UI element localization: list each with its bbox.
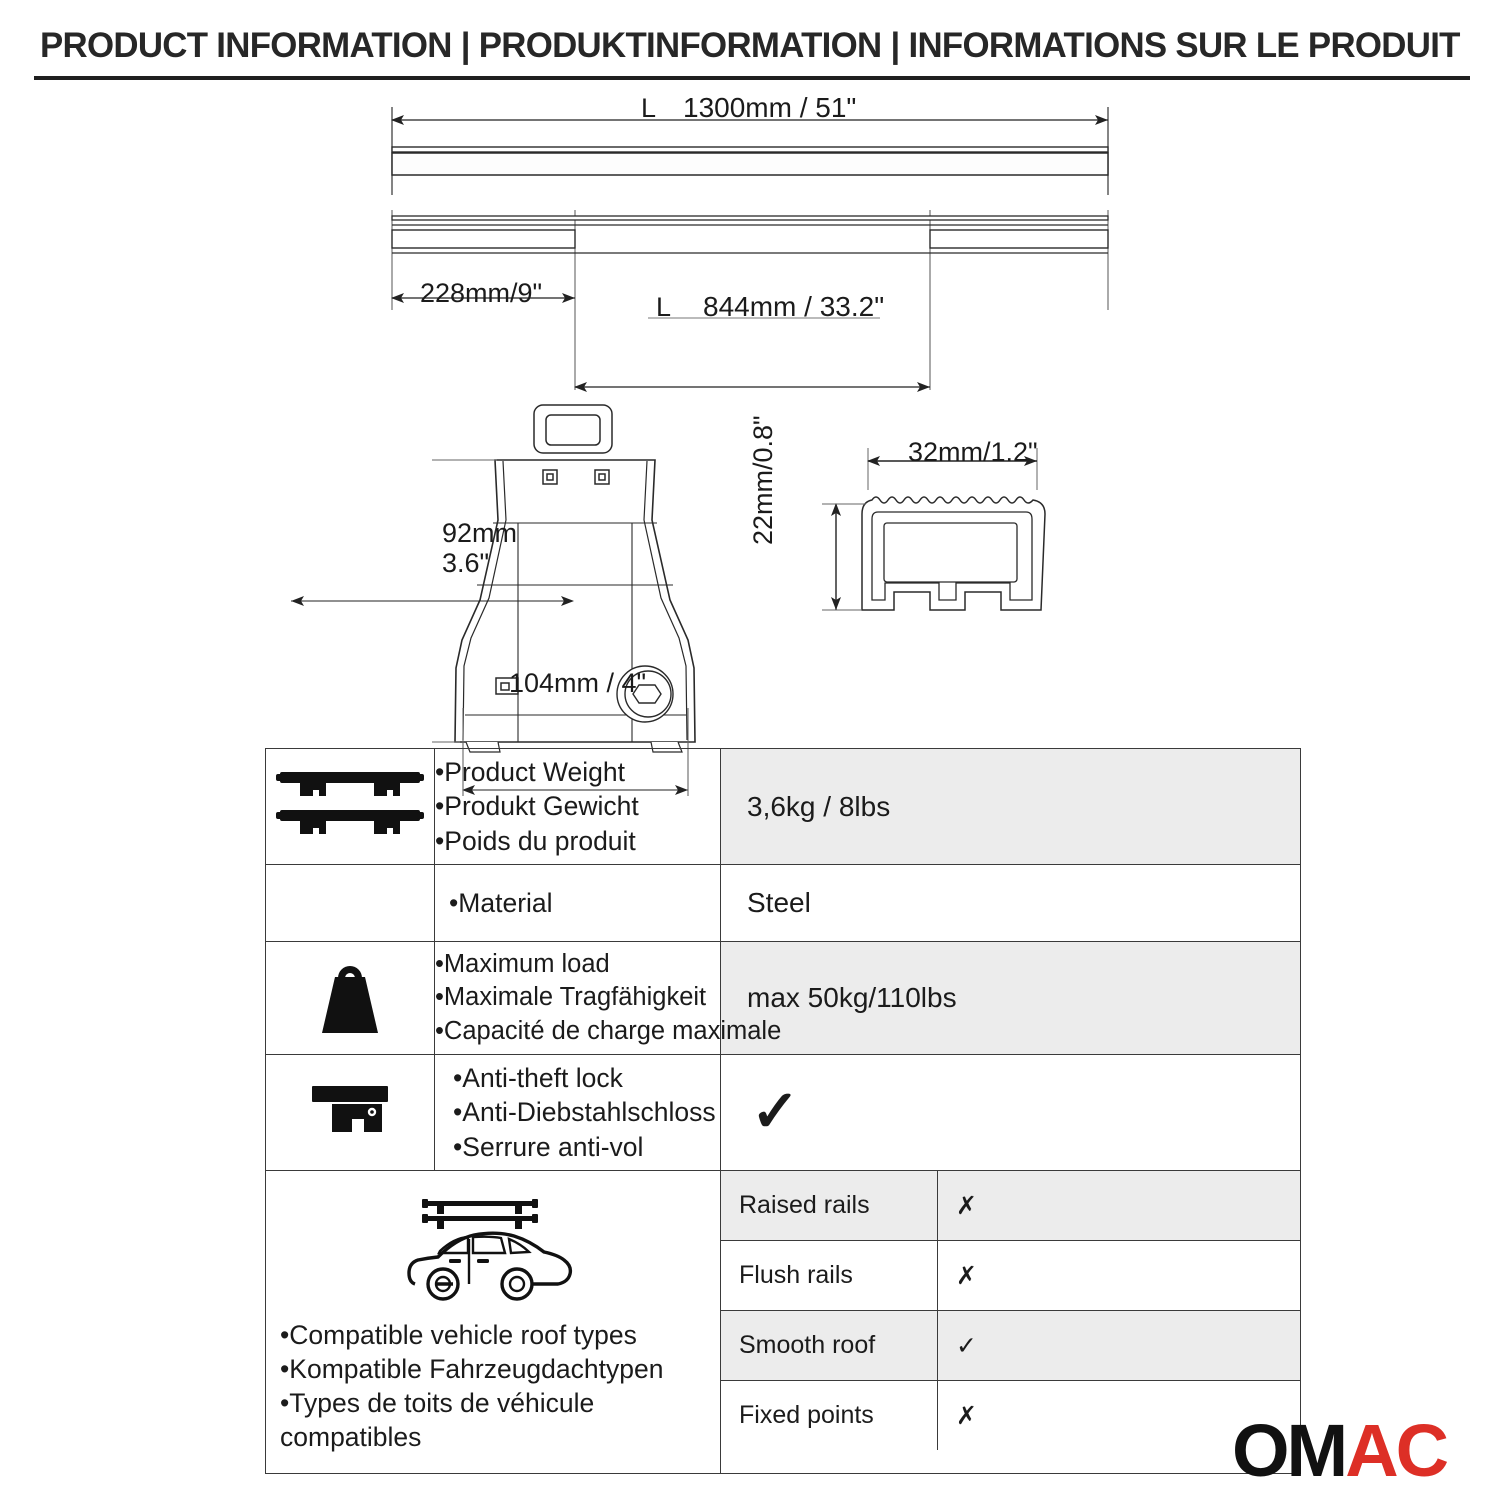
weight-value-cell: 3,6kg / 8lbs [721,749,1301,865]
weight-value: 3,6kg / 8lbs [721,791,1300,823]
roof-type-mark: ✗ [938,1241,1301,1311]
roof-subrow: Smooth roof ✓ [721,1311,1300,1381]
material-value: Steel [721,887,1300,919]
car-with-rack-icon-wrap [266,1189,720,1319]
lock-labels-cell: •Anti-theft lock •Anti-Diebstahlschloss … [435,1054,721,1170]
dim-foot-width: 104mm / 4" [509,668,646,699]
label-line: •Anti-theft lock [453,1061,716,1095]
logo-text-dark: OM [1232,1409,1345,1492]
label-line: •Produkt Gewicht [435,789,716,823]
roof-subrow: Fixed points ✗ [721,1381,1300,1451]
material-value-cell: Steel [721,865,1301,942]
label-line: •Types de toits de véhicule [280,1387,714,1421]
table-row: •Material Steel [266,865,1301,942]
lock-icon-cell [266,1054,435,1170]
label-line: •Serrure anti-vol [453,1130,716,1164]
dim-foot-height-line2: 3.6" [442,548,489,579]
table-row-roof-types: •Compatible vehicle roof types •Kompatib… [266,1171,1301,1474]
label-line: •Poids du produit [435,824,716,858]
label-line: compatibles [280,1421,714,1455]
maxload-value-cell: max 50kg/110lbs [721,942,1301,1054]
logo-text-red: AC [1345,1409,1446,1492]
table-row: •Product Weight •Produkt Gewicht •Poids … [266,749,1301,865]
roof-type-name: Fixed points [721,1381,938,1451]
lock-value-cell: ✓ [721,1054,1301,1170]
label-line: •Anti-Diebstahlschloss [453,1095,716,1129]
material-icon-cell [266,865,435,942]
roof-type-mark: ✓ [938,1311,1301,1381]
weight-icon-cell [266,942,435,1054]
crossbars-icon [274,766,426,842]
label-line: •Product Weight [435,755,716,789]
lock-check-mark: ✓ [721,1089,800,1135]
dim-foot-offset: 228mm/9" [420,278,542,309]
product-information-sheet: PRODUCT INFORMATION | PRODUKTINFORMATION… [0,0,1500,1500]
label-line: •Maximum load [435,948,716,981]
roof-type-name: Flush rails [721,1241,938,1311]
roof-types-subgrid: Raised rails ✗ Flush rails ✗ Smooth roof… [721,1171,1300,1450]
dim-span-value: 844mm / 33.2" [703,291,884,323]
roof-type-name: Raised rails [721,1171,938,1241]
label-line: •Maximale Tragfähigkeit [435,981,716,1014]
label-line: •Capacité de charge maximale [435,1015,716,1048]
label-line: •Compatible vehicle roof types [280,1319,714,1353]
roof-subrow: Raised rails ✗ [721,1171,1300,1241]
roof-type-name: Smooth roof [721,1311,938,1381]
dim-profile-width: 32mm/1.2" [908,437,1038,468]
table-row: •Maximum load •Maximale Tragfähigkeit •C… [266,942,1301,1054]
dim-profile-height: 22mm/0.8" [748,415,779,545]
table-row: •Anti-theft lock •Anti-Diebstahlschloss … [266,1054,1301,1170]
maxload-labels-cell: •Maximum load •Maximale Tragfähigkeit •C… [435,942,721,1054]
car-with-rack-icon [393,1189,593,1314]
material-label-cell: •Material [435,865,721,942]
crossbars-icon-cell [266,749,435,865]
lock-icon [304,1072,396,1148]
dim-bar-length-prefix: L [641,93,656,124]
weight-labels-cell: •Product Weight •Produkt Gewicht •Poids … [435,749,721,865]
roof-types-matrix-cell: Raised rails ✗ Flush rails ✗ Smooth roof… [721,1171,1301,1474]
specification-table: •Product Weight •Produkt Gewicht •Poids … [265,748,1301,1474]
label-line: •Kompatible Fahrzeugdachtypen [280,1353,714,1387]
roof-types-cell: •Compatible vehicle roof types •Kompatib… [266,1171,721,1474]
dim-span-prefix: L [656,292,671,323]
label-line: •Material [449,886,716,920]
omac-logo: OMAC [1232,1414,1446,1488]
maxload-value: max 50kg/110lbs [721,982,1300,1014]
roof-subrow: Flush rails ✗ [721,1241,1300,1311]
roof-type-mark: ✗ [938,1171,1301,1241]
roof-type-labels: •Compatible vehicle roof types •Kompatib… [266,1319,720,1455]
dim-foot-height-line1: 92mm [442,518,517,549]
dim-bar-length-value: 1300mm / 51" [683,92,856,124]
weight-icon [304,953,396,1039]
